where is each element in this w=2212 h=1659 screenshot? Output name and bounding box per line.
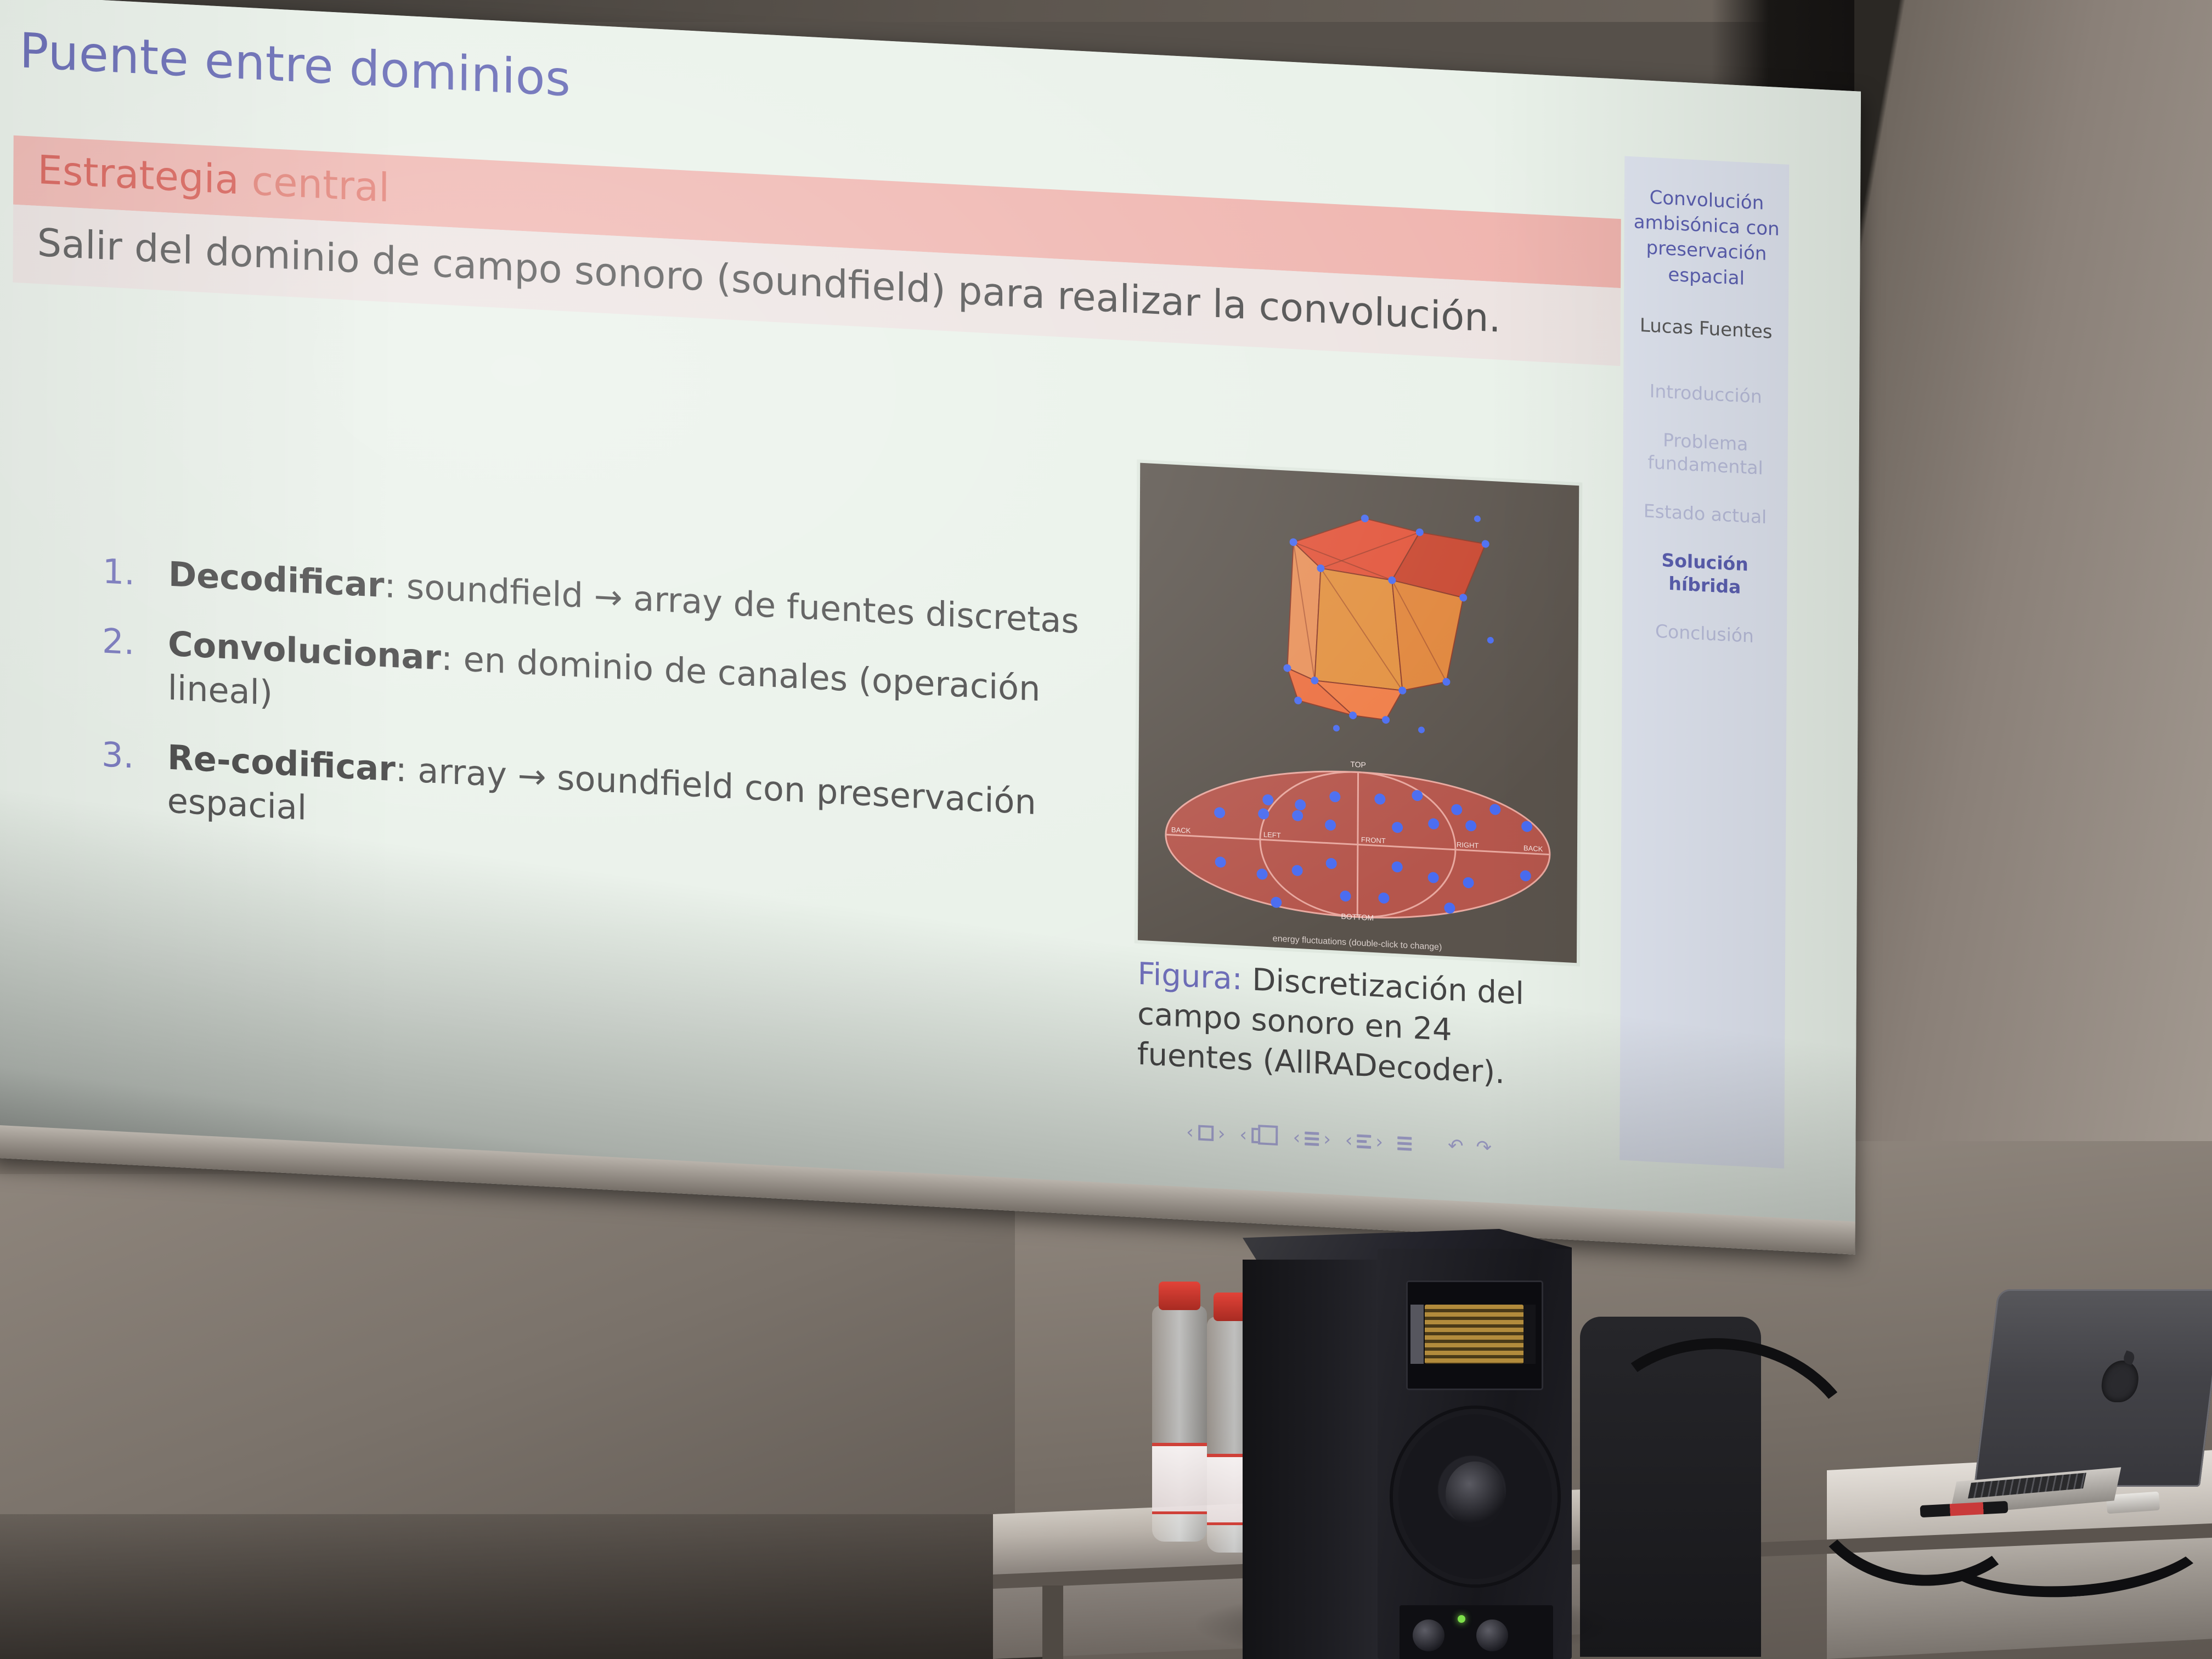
lecture-room-scene: Puente entre dominios Estrategia central… bbox=[0, 0, 2212, 1659]
enumerated-list: 1. Decodificar: soundfield → array de fu… bbox=[101, 549, 1090, 896]
woofer-driver bbox=[1393, 1409, 1558, 1584]
polyhedron-mesh-icon bbox=[1227, 489, 1502, 745]
right-wall bbox=[1827, 0, 2212, 1240]
power-knob[interactable] bbox=[1476, 1620, 1508, 1651]
sidebar-item-conclusion[interactable]: Conclusión bbox=[1630, 619, 1779, 650]
sidebar-item-estado-actual[interactable]: Estado actual bbox=[1630, 499, 1780, 529]
hammer-projection-icon: TOP BOTTOM BACK LEFT FRONT RIGHT BACK bbox=[1160, 749, 1556, 934]
apple-logo-icon bbox=[2100, 1361, 2141, 1402]
studio-monitor-speaker bbox=[1232, 1229, 1572, 1659]
last-slide-icon[interactable] bbox=[1397, 1133, 1412, 1153]
sidebar-item-problema-fundamental[interactable]: Problema fundamental bbox=[1630, 427, 1780, 481]
projection-label-left: LEFT bbox=[1263, 831, 1281, 840]
next-frame-icon[interactable]: ‹› bbox=[1345, 1129, 1383, 1153]
figure-caption: Figura: Discretización del campo sonoro … bbox=[1137, 955, 1577, 1097]
laptop[interactable] bbox=[1953, 1289, 2212, 1525]
bottle-label bbox=[1152, 1443, 1207, 1514]
floor-shadow bbox=[0, 1514, 1042, 1659]
figure-caption-label: Figura: bbox=[1137, 956, 1242, 997]
bottle-cap bbox=[1159, 1282, 1200, 1310]
previous-frame-icon[interactable]: ‹› bbox=[1293, 1126, 1331, 1150]
sidebar-author: Lucas Fuentes bbox=[1632, 314, 1781, 343]
list-item: 2. Convolucionar: en dominio de canales … bbox=[102, 619, 1090, 757]
ribbon-element bbox=[1425, 1305, 1523, 1364]
water-bottle bbox=[1152, 1306, 1207, 1542]
ribbon-tweeter bbox=[1406, 1280, 1543, 1390]
projection-label-front: FRONT bbox=[1361, 836, 1386, 845]
list-item-text: Re-codificar: array → soundfield con pre… bbox=[167, 736, 1090, 871]
speaker-front-baffle bbox=[1378, 1249, 1572, 1659]
laptop-lid bbox=[1974, 1289, 2212, 1487]
projection-label-back-right: BACK bbox=[1523, 844, 1543, 853]
projection-label-top: TOP bbox=[1350, 760, 1366, 769]
list-item-number: 2. bbox=[102, 619, 168, 709]
list-item-text: Convolucionar: en dominio de canales (op… bbox=[168, 622, 1090, 757]
beamer-slide: Puente entre dominios Estrategia central… bbox=[0, 0, 1861, 1255]
beamer-navigation-bar[interactable]: ‹› ‹› ‹› ‹› ↶ ↷ bbox=[1186, 1121, 1495, 1159]
sidebar-title: Convolución ambisónica con preservación … bbox=[1632, 184, 1781, 293]
figure-block: TOP BOTTOM BACK LEFT FRONT RIGHT BACK en… bbox=[1137, 463, 1579, 1097]
projection-screen: Puente entre dominios Estrategia central… bbox=[0, 0, 1861, 1255]
projection-label-right: RIGHT bbox=[1457, 840, 1479, 850]
alert-title: Estrategia central bbox=[37, 146, 390, 211]
alert-block: Estrategia central Salir del dominio de … bbox=[13, 136, 1621, 366]
first-slide-icon[interactable]: ‹› bbox=[1186, 1121, 1225, 1145]
list-item-number: 3. bbox=[101, 732, 168, 822]
speaker-control-panel[interactable] bbox=[1400, 1605, 1553, 1659]
list-item-number: 1. bbox=[103, 549, 168, 596]
sidebar-item-solucion-hibrida[interactable]: Solución híbrida bbox=[1630, 547, 1779, 601]
back-search-forward-icon[interactable]: ↶ ↷ bbox=[1448, 1135, 1495, 1159]
projection-label-back-left: BACK bbox=[1171, 826, 1191, 835]
beamer-sidebar: Convolución ambisónica con preservación … bbox=[1620, 156, 1789, 1169]
list-item: 3. Re-codificar: array → soundfield con … bbox=[101, 732, 1090, 870]
volume-knob[interactable] bbox=[1413, 1620, 1444, 1651]
power-led-icon bbox=[1458, 1615, 1465, 1623]
previous-slide-icon[interactable]: ‹› bbox=[1239, 1124, 1278, 1148]
sidebar-item-introduccion[interactable]: Introducción bbox=[1631, 379, 1780, 409]
allrad-decoder-figure: TOP BOTTOM BACK LEFT FRONT RIGHT BACK en… bbox=[1138, 463, 1579, 963]
page-title: Puente entre dominios bbox=[19, 22, 571, 107]
projection-label-bottom: BOTTOM bbox=[1341, 912, 1374, 922]
sidebar-nav: Introducción Problema fundamental Estado… bbox=[1630, 379, 1780, 650]
